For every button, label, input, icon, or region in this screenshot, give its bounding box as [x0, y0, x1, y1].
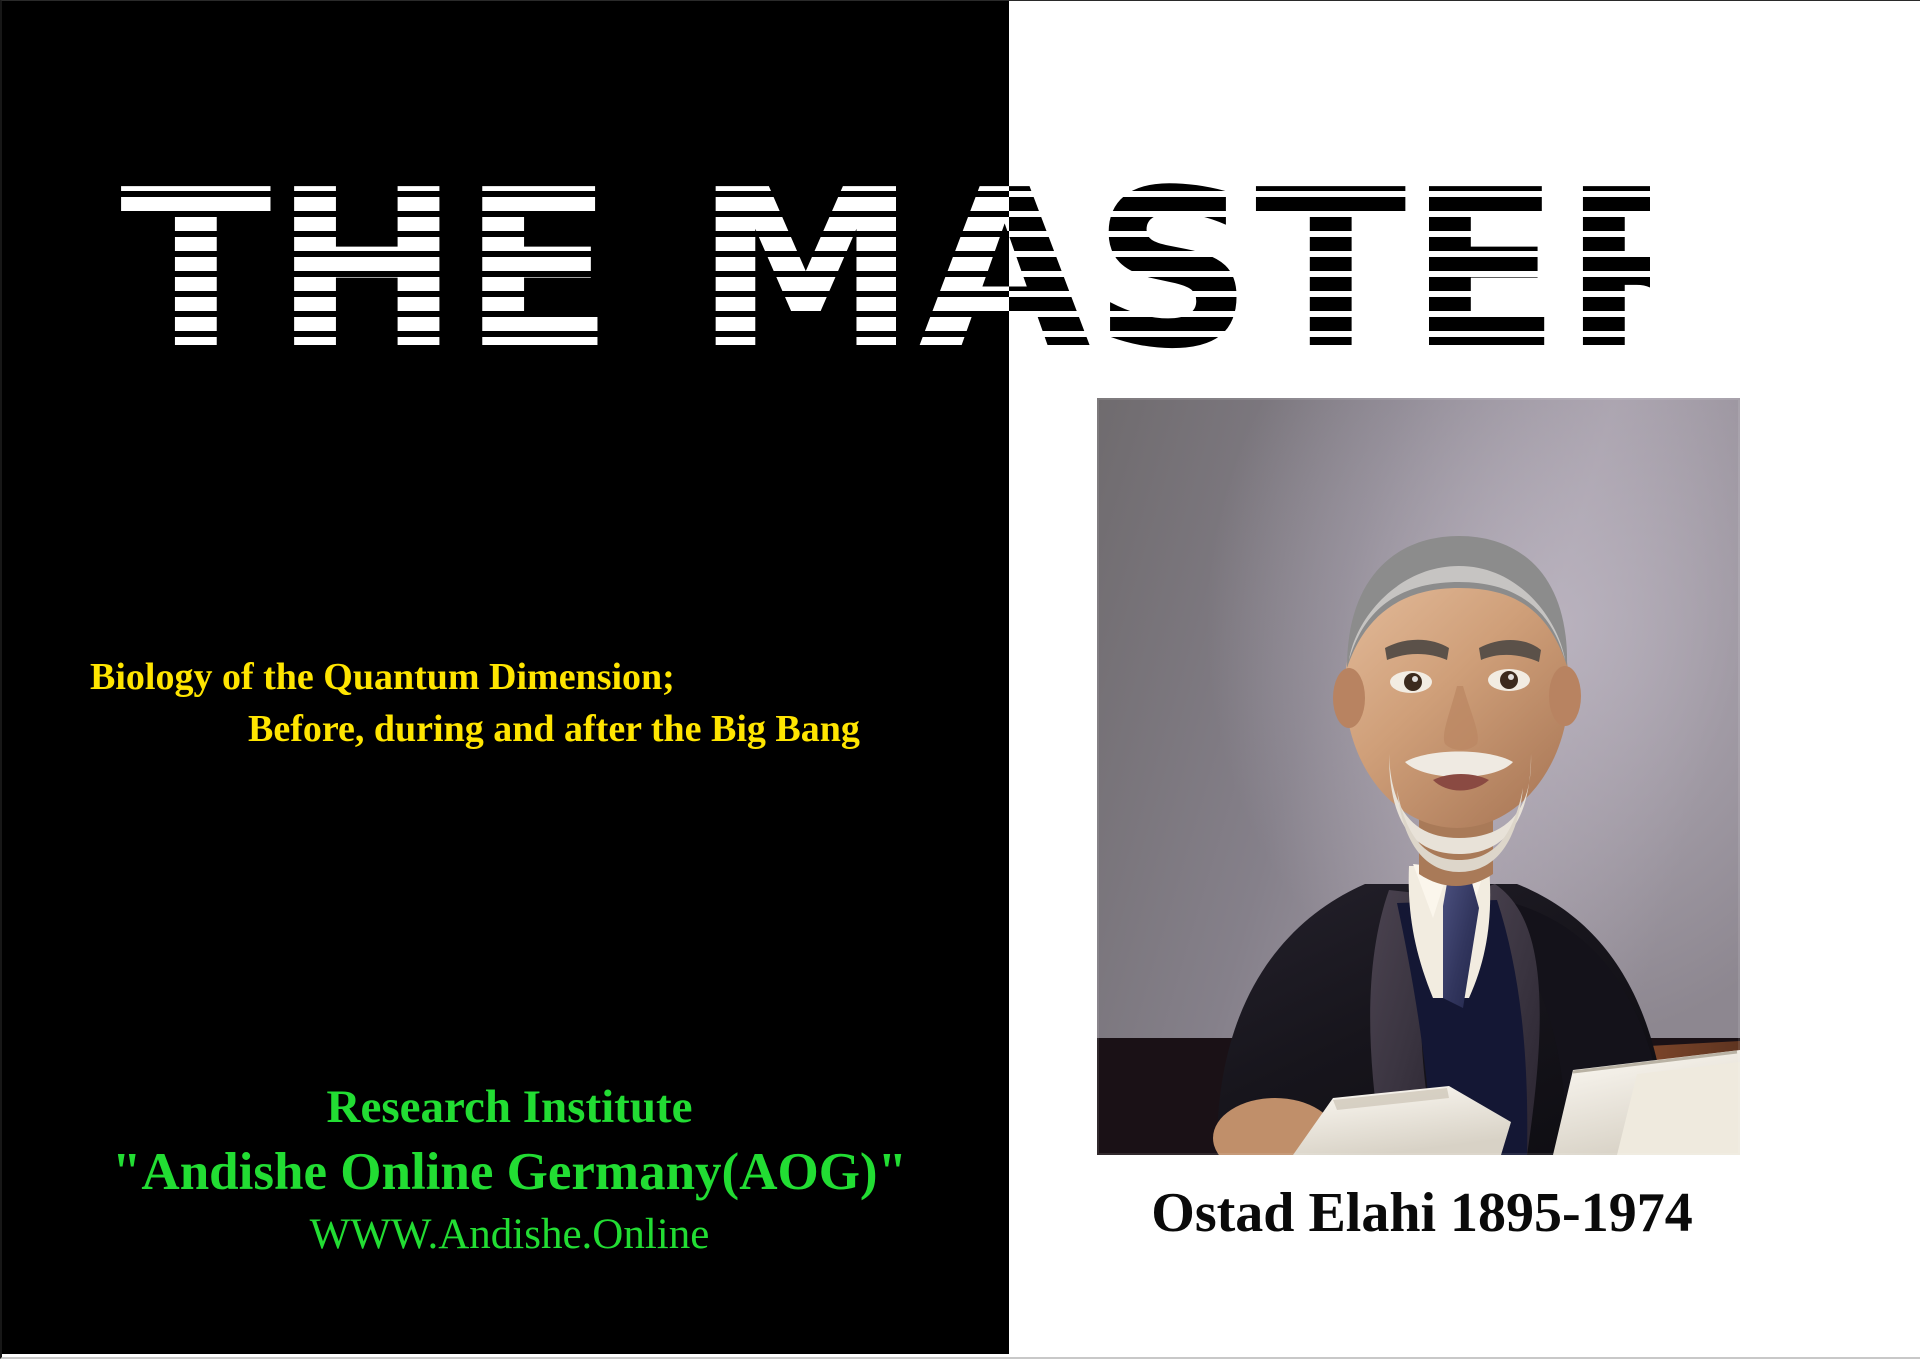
subtitle-line-2: Before, during and after the Big Bang: [90, 703, 970, 755]
portrait-photo: [1097, 398, 1740, 1155]
institute-name: Research Institute: [42, 1076, 977, 1138]
portrait-caption: Ostad Elahi 1895-1974: [1062, 1181, 1782, 1245]
institute-website: WWW.Andishe.Online: [42, 1206, 977, 1264]
presentation-slide: THE MASTER THE MASTER Biology of the Qua…: [0, 0, 1920, 1359]
subtitle-line-1: Biology of the Quantum Dimension;: [90, 651, 970, 703]
subtitle-block: Biology of the Quantum Dimension; Before…: [90, 651, 970, 755]
institute-organization: "Andishe Online Germany(AOG)": [42, 1138, 977, 1206]
institute-block: Research Institute "Andishe Online Germa…: [42, 1076, 977, 1264]
